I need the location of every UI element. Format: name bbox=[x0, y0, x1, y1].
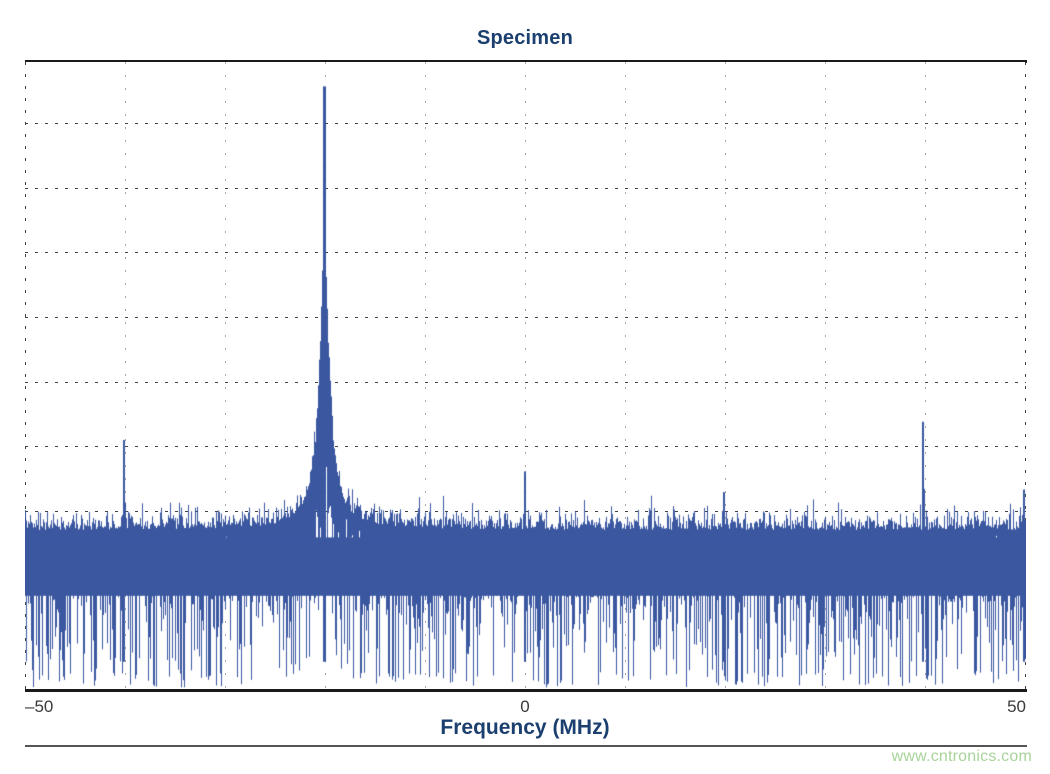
axis-bottom-border bbox=[25, 689, 1027, 692]
site-watermark: www.cntronics.com bbox=[892, 748, 1032, 766]
chart-page: Specimen –50 0 50 Frequency (MHz) www.cn… bbox=[0, 0, 1050, 774]
spectrum-trace bbox=[25, 62, 1026, 690]
footer-divider bbox=[25, 745, 1027, 747]
chart-title: Specimen bbox=[0, 27, 1050, 50]
x-axis-label: Frequency (MHz) bbox=[0, 716, 1050, 740]
x-tick-label-max: 50 bbox=[0, 697, 1026, 717]
